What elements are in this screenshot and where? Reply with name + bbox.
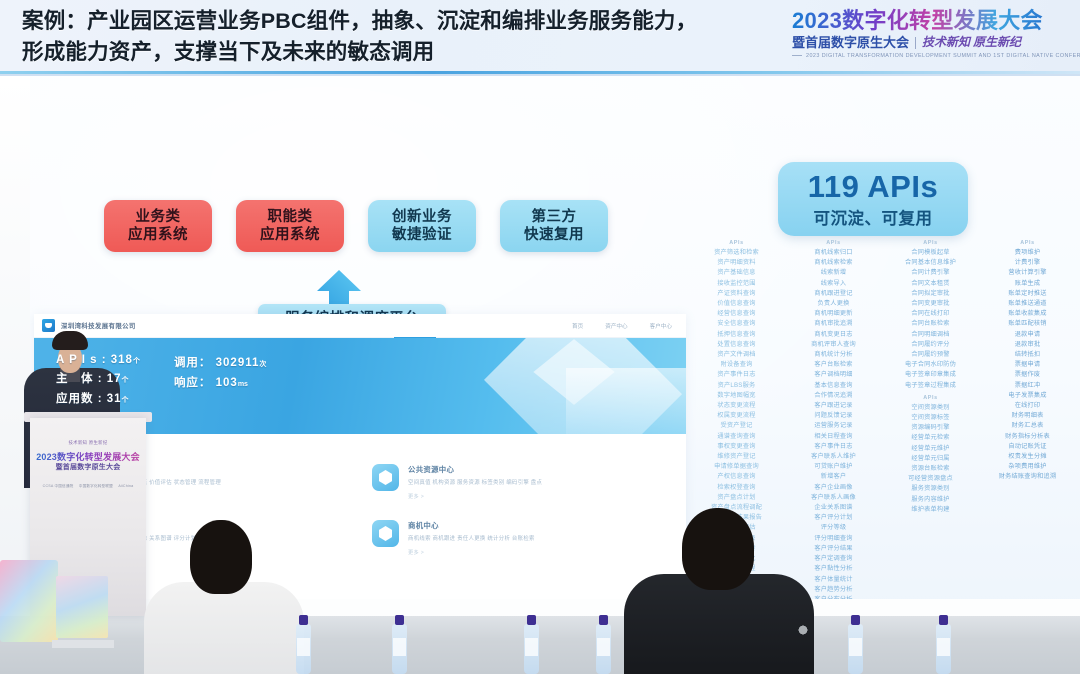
- api-item: 客户跟进记录: [814, 401, 852, 411]
- api-group: APIs合同模板起草合同基本信息维护合同计费引擎合同文本租赁合同拟定审批合同变更…: [886, 236, 975, 391]
- api-item: 财务明细表: [1012, 411, 1044, 421]
- api-item: 基本信息查询: [814, 381, 852, 391]
- api-item: 合同履约预警: [911, 350, 949, 360]
- api-item: 资产文件调档: [717, 350, 755, 360]
- api-item: 电子发票集成: [1008, 391, 1046, 401]
- pill-business-apps: 业务类 应用系统: [104, 200, 212, 252]
- api-item: 合同拟定审批: [911, 289, 949, 299]
- stat-label: 调用：: [174, 357, 212, 369]
- slide-stats: A P I s : 318个 主 体 : 17个 应用数 : 31个: [56, 354, 266, 406]
- stat-value: 17: [107, 373, 122, 385]
- card-more-link[interactable]: 更多 >: [408, 493, 662, 500]
- api-item: 资产盘点计划: [717, 493, 755, 503]
- api-count-callout: 119 APIs 可沉淀、可复用: [778, 162, 968, 236]
- audience-shoulders: [144, 582, 304, 674]
- api-item: 经营单元检索: [911, 433, 949, 443]
- api-item: 客户事件日志: [814, 442, 852, 452]
- api-item: 抵押信息查询: [717, 330, 755, 340]
- card-more-link[interactable]: 更多 >: [408, 549, 662, 556]
- company-logo-icon: [42, 319, 55, 332]
- conference-logo: 2023数字化转型发展大会 暨首届数字原生大会 技术新知 原生新纪 2023 D…: [792, 8, 1064, 59]
- jacket-logo-icon: [794, 624, 812, 636]
- api-item: 资源台账检索: [911, 464, 949, 474]
- api-item: 空间资源标签: [911, 413, 949, 423]
- api-item: 线索新增: [821, 268, 847, 278]
- api-item: 资产事件日志: [717, 370, 755, 380]
- hero-shape-c: [566, 368, 686, 434]
- water-bottle: [524, 624, 539, 674]
- api-item: 结转抵扣: [1015, 350, 1041, 360]
- api-item: 权属变更流程: [717, 411, 755, 421]
- water-bottle: [296, 624, 311, 674]
- api-item: 财务指标分析表: [1005, 432, 1050, 442]
- podium-sponsor-2: AiiChina: [118, 484, 133, 489]
- podium-sponsors: CCSA 中国信通院 中国数字化转型联盟 AiiChina: [30, 484, 146, 489]
- api-item: 合同变更审批: [911, 299, 949, 309]
- stat-label: A P I s :: [56, 354, 107, 366]
- api-item: 客户调档明细: [814, 370, 852, 380]
- banner-title-line1: 案例：产业园区运营业务PBC组件，抽象、沉淀和编排业务服务能力，: [22, 9, 697, 33]
- api-item: 通谱查询查询: [717, 432, 755, 442]
- api-item: 自动记账凭证: [1008, 442, 1046, 452]
- stat-unit: 个: [122, 377, 129, 384]
- pill-third-party-reuse: 第三方 快速复用: [500, 200, 608, 252]
- api-item: 电子签章印章集成: [905, 370, 956, 380]
- audience-head: [190, 520, 252, 594]
- api-item: 客户联系人维护: [811, 452, 856, 462]
- api-item: 账单生成: [1015, 279, 1041, 289]
- api-item: 商机评审人查询: [811, 340, 856, 350]
- api-item: 合同履约评分: [911, 340, 949, 350]
- api-item: 安全信息查询: [717, 319, 755, 329]
- api-item: 负责人更换: [818, 299, 850, 309]
- api-group-heading: APIs: [923, 395, 937, 401]
- podium-sponsor-1: 中国数字化转型联盟: [79, 484, 113, 489]
- top-banner: 案例：产业园区运营业务PBC组件，抽象、沉淀和编排业务服务能力， 形成能力资产，…: [0, 0, 1080, 76]
- api-item: 合同模板起草: [911, 248, 949, 258]
- api-item: 状态变更流程: [717, 401, 755, 411]
- api-item: 商机跟进登记: [814, 289, 852, 299]
- api-item: 客户联系人画像: [811, 493, 856, 503]
- api-item: 合同基本信息维护: [905, 258, 956, 268]
- api-group-heading: APIs: [923, 240, 937, 246]
- conference-logo-title: 2023数字化转型发展大会: [792, 8, 1064, 34]
- api-item: 营收计算引擎: [1008, 268, 1046, 278]
- podium-slogan: 技术新知 原生新纪: [30, 440, 146, 446]
- decorative-panel: [0, 560, 58, 642]
- card-opportunity-center[interactable]: 商机中心 商机线索 商机跟进 责任人更换 统计分析 台账检索 更多 >: [360, 510, 668, 566]
- api-item: 问题反馈记录: [814, 411, 852, 421]
- pill-line1: 创新业务: [392, 208, 452, 226]
- api-item: 资产明细资料: [717, 258, 755, 268]
- api-item: 接收监控范围: [717, 279, 755, 289]
- slide-nav-item-2[interactable]: 客户中心: [650, 322, 672, 330]
- slide-nav-item-0[interactable]: 首页: [572, 322, 583, 330]
- company-name: 深圳湾科技发展有限公司: [61, 321, 136, 330]
- stat-app-count: 应用数 : 31个: [56, 390, 140, 406]
- api-item: 可经营资源盘点: [908, 474, 953, 484]
- api-item: 合同计费引擎: [911, 268, 949, 278]
- pill-functional-apps: 职能类 应用系统: [236, 200, 344, 252]
- slide-toolbar: 深圳湾科技发展有限公司 首页 资产中心 客户中心: [34, 314, 686, 338]
- card-tags: 空间真值 机构资源 服务资源 标签类别 编码引擎 盘点: [408, 479, 662, 487]
- pill-line2: 应用系统: [128, 226, 188, 244]
- api-item: 价值信息查询: [717, 299, 755, 309]
- api-item: 运营服务记录: [814, 421, 852, 431]
- api-item: 可贷账户维护: [814, 462, 852, 472]
- pill-innovation-validation: 创新业务 敏捷验证: [368, 200, 476, 252]
- laptop-screen: [56, 576, 108, 638]
- dash-rule: [792, 55, 802, 56]
- api-group-heading: APIs: [1020, 240, 1034, 246]
- audience-member-right: [640, 504, 840, 674]
- divider: [915, 37, 916, 49]
- water-bottle: [848, 624, 863, 674]
- api-item: 电子合同水印防伪: [905, 360, 956, 370]
- api-count-value: 119 APIs: [808, 170, 938, 204]
- stat-label: 响应：: [174, 377, 212, 389]
- stat-subjects: 主 体 : 17个: [56, 370, 140, 386]
- api-item: 合同文本租赁: [911, 279, 949, 289]
- api-group-heading: APIs: [826, 240, 840, 246]
- api-item: 合同明细调档: [911, 330, 949, 340]
- api-item: 附设备查询: [721, 360, 753, 370]
- api-item: 资产基础信息: [717, 268, 755, 278]
- pill-line2: 应用系统: [260, 226, 320, 244]
- api-item: 经营单元归属: [911, 454, 949, 464]
- screenshot-root: 案例：产业园区运营业务PBC组件，抽象、沉淀和编排业务服务能力， 形成能力资产，…: [0, 0, 1080, 674]
- api-item: 客户台账检索: [814, 360, 852, 370]
- slide-stats-right: 调用： 302911次 响应： 103ms: [174, 354, 266, 406]
- water-bottle: [596, 624, 611, 674]
- api-item: 服务内容维护: [911, 495, 949, 505]
- card-body: 商机中心 商机线索 商机跟进 责任人更换 统计分析 台账检索 更多 >: [408, 520, 662, 556]
- api-column-finance: APIs费项维护计费引擎营收计算引擎账单生成账单定时推送账单推送通道账单收款集成…: [983, 236, 1072, 616]
- api-item: 客户企业画像: [814, 483, 852, 493]
- api-item: 费项维护: [1015, 248, 1041, 258]
- card-title: 商机中心: [408, 520, 662, 531]
- api-item: 电子签章过程集成: [905, 381, 956, 391]
- api-item: 数字地图幅宽: [717, 391, 755, 401]
- pill-line2: 快速复用: [524, 226, 584, 244]
- api-item: 商机线索归口: [814, 248, 852, 258]
- laptop-base: [52, 640, 114, 648]
- api-item: 维护表单构建: [911, 505, 949, 515]
- card-tags: 商机线索 商机跟进 责任人更换 统计分析 台账检索: [408, 535, 662, 543]
- cube-icon: [372, 464, 399, 491]
- audience-head: [682, 508, 754, 590]
- api-item: 事权变更查询: [717, 442, 755, 452]
- api-item: 账单定时推送: [1008, 289, 1046, 299]
- stat-response: 响应： 103ms: [174, 374, 266, 390]
- stat-label: 应用数 :: [56, 393, 103, 405]
- pill-line1: 职能类: [268, 208, 313, 226]
- stat-value: 31: [107, 393, 122, 405]
- api-group: APIs空间资源类别空间资源标签资源编码引擎经营单元检索经营单元维护经营单元归属…: [886, 391, 975, 515]
- stat-value: 318: [111, 354, 133, 366]
- stat-value: 103: [216, 377, 238, 389]
- api-item: 线索导入: [821, 279, 847, 289]
- conference-logo-english-text: 2023 DIGITAL TRANSFORMATION DEVELOPMENT …: [806, 53, 1080, 59]
- api-item: 票据作废: [1015, 370, 1041, 380]
- api-item: 资产筛选和检索: [714, 248, 759, 258]
- podium-sponsor-0: CCSA 中国信通院: [43, 484, 74, 489]
- api-item: 合同在线打印: [911, 309, 949, 319]
- card-public-resource-center[interactable]: 公共资源中心 空间真值 机构资源 服务资源 标签类别 编码引擎 盘点 更多 >: [360, 454, 668, 510]
- stat-unit: ms: [238, 381, 248, 388]
- api-item: 商机统计分析: [814, 350, 852, 360]
- banner-title: 案例：产业园区运营业务PBC组件，抽象、沉淀和编排业务服务能力， 形成能力资产，…: [22, 6, 762, 68]
- api-item: 票据申请: [1015, 360, 1041, 370]
- api-column-contracts: APIs合同模板起草合同基本信息维护合同计费引擎合同文本租赁合同拟定审批合同变更…: [886, 236, 975, 616]
- api-item: 账单匹配核销: [1008, 319, 1046, 329]
- api-item: 账单收款集成: [1008, 309, 1046, 319]
- card-title: 公共资源中心: [408, 464, 662, 475]
- cube-icon: [372, 520, 399, 547]
- banner-title-line2: 形成能力资产，支撑当下及未来的敏态调用: [22, 37, 762, 68]
- api-item: 资产LBS服务: [718, 381, 756, 391]
- stat-value: 302911: [216, 357, 260, 369]
- api-item: 新增客户: [821, 472, 847, 482]
- api-count-subtitle: 可沉淀、可复用: [814, 205, 933, 229]
- api-group: APIs费项维护计费引擎营收计算引擎账单生成账单定时推送账单推送通道账单收款集成…: [983, 236, 1072, 483]
- conference-logo-subtitle: 暨首届数字原生大会 技术新知 原生新纪: [792, 35, 1064, 50]
- card-body: 公共资源中心 空间真值 机构资源 服务资源 标签类别 编码引擎 盘点 更多 >: [408, 464, 662, 500]
- api-item: 退款审批: [1015, 340, 1041, 350]
- api-item: 合作情况追溯: [814, 391, 852, 401]
- api-item: 在线打印: [1015, 401, 1041, 411]
- pill-line1: 第三方: [532, 208, 577, 226]
- api-item: 服务资源类别: [911, 484, 949, 494]
- conference-logo-subtitle-text: 暨首届数字原生大会: [792, 35, 909, 50]
- api-item: 商机审批追溯: [814, 319, 852, 329]
- api-item: 财务汇总表: [1012, 421, 1044, 431]
- api-item: 计费引擎: [1015, 258, 1041, 268]
- api-item: 合同台账检索: [911, 319, 949, 329]
- api-item: 经营单元维护: [911, 444, 949, 454]
- slide-nav-item-1[interactable]: 资产中心: [605, 322, 627, 330]
- api-item: 杂项费用维护: [1008, 462, 1046, 472]
- podium-subtitle: 暨首届数字原生大会: [30, 462, 146, 472]
- api-item: 账单推送通道: [1008, 299, 1046, 309]
- api-item: 申请修单据查询: [714, 462, 759, 472]
- stat-label: 主 体 :: [56, 373, 103, 385]
- water-bottle: [392, 624, 407, 674]
- left-wall: [0, 76, 30, 616]
- api-item: 空间资源类别: [911, 403, 949, 413]
- pill-line1: 业务类: [136, 208, 181, 226]
- api-item: 商机明细更新: [814, 309, 852, 319]
- api-item: 相关日程查询: [814, 432, 852, 442]
- stat-unit: 个: [122, 397, 129, 404]
- api-item: 受资产登记: [721, 421, 753, 431]
- stat-apis: A P I s : 318个: [56, 354, 140, 366]
- api-item: 票据红冲: [1015, 381, 1041, 391]
- api-item: 财务结账查询和追溯: [999, 472, 1057, 482]
- api-item: 经营信息查询: [717, 309, 755, 319]
- api-item: 维修资产登记: [717, 452, 755, 462]
- api-item: 资源编码引擎: [911, 423, 949, 433]
- api-item: 检索权登查询: [717, 483, 755, 493]
- api-item: 产证资料查询: [717, 289, 755, 299]
- api-item: 商机线索检索: [814, 258, 852, 268]
- stat-calls: 调用： 302911次: [174, 354, 266, 370]
- api-item: 产权信息查询: [717, 472, 755, 482]
- stat-unit: 个: [133, 358, 140, 365]
- api-group-heading: APIs: [729, 240, 743, 246]
- water-bottle: [936, 624, 951, 674]
- api-item: 退款申请: [1015, 330, 1041, 340]
- pill-line2: 敏捷验证: [392, 226, 452, 244]
- slide-nav: 首页 资产中心 客户中心: [572, 322, 686, 330]
- api-item: 权责发生分摊: [1008, 452, 1046, 462]
- api-item: 商机变更日志: [814, 330, 852, 340]
- api-item: 处置信息查询: [717, 340, 755, 350]
- conference-logo-slogan: 技术新知 原生新纪: [922, 35, 1021, 50]
- conference-logo-english: 2023 DIGITAL TRANSFORMATION DEVELOPMENT …: [792, 53, 1064, 59]
- stat-unit: 次: [259, 361, 266, 368]
- speaker-hair: [52, 331, 88, 350]
- slide-stats-left: A P I s : 318个 主 体 : 17个 应用数 : 31个: [56, 354, 140, 406]
